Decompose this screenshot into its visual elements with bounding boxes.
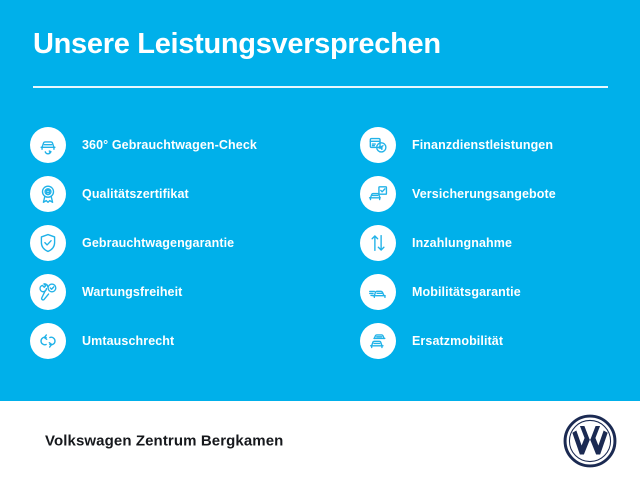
feature-item: Mobilitätsgarantie [360, 267, 640, 316]
feature-label: Wartungsfreiheit [82, 285, 182, 299]
car-document-icon [360, 176, 396, 212]
feature-item: Ersatzmobilität [360, 316, 640, 365]
feature-item: Wartungsfreiheit [30, 267, 330, 316]
feature-item: Inzahlungnahme [360, 218, 640, 267]
feature-item: 360° Gebrauchtwagen-Check [30, 120, 330, 169]
feature-column-left: 360° Gebrauchtwagen-Check Qualitätszerti… [30, 120, 330, 365]
coins-euro-icon [360, 127, 396, 163]
promise-slide: Unsere Leistungsversprechen [0, 0, 640, 480]
feature-column-right: Finanzdienstleistungen Versicheru [360, 120, 640, 365]
feature-label: Ersatzmobilität [412, 334, 503, 348]
feature-label: Mobilitätsgarantie [412, 285, 521, 299]
feature-item: Qualitätszertifikat [30, 169, 330, 218]
car-check-icon [30, 127, 66, 163]
up-down-arrows-icon [360, 225, 396, 261]
feature-item: Gebrauchtwagengarantie [30, 218, 330, 267]
dealer-name: Volkswagen Zentrum Bergkamen [45, 432, 283, 449]
feature-label: Qualitätszertifikat [82, 187, 189, 201]
tow-car-icon [360, 274, 396, 310]
feature-item: Versicherungsangebote [360, 169, 640, 218]
feature-label: Gebrauchtwagengarantie [82, 236, 234, 250]
feature-label: 360° Gebrauchtwagen-Check [82, 138, 257, 152]
feature-label: Umtauschrecht [82, 334, 174, 348]
two-cars-icon [360, 323, 396, 359]
page-title: Unsere Leistungsversprechen [33, 29, 441, 61]
feature-item: Umtauschrecht [30, 316, 330, 365]
feature-label: Versicherungsangebote [412, 187, 556, 201]
feature-label: Finanzdienstleistungen [412, 138, 553, 152]
volkswagen-logo [562, 413, 618, 469]
award-rosette-icon [30, 176, 66, 212]
shield-check-icon [30, 225, 66, 261]
wrench-check-icon [30, 274, 66, 310]
feature-label: Inzahlungnahme [412, 236, 512, 250]
title-divider [33, 86, 608, 88]
footer-bar: Volkswagen Zentrum Bergkamen [0, 401, 640, 480]
swap-arrows-icon [30, 323, 66, 359]
feature-item: Finanzdienstleistungen [360, 120, 640, 169]
blue-panel: Unsere Leistungsversprechen [0, 0, 640, 401]
